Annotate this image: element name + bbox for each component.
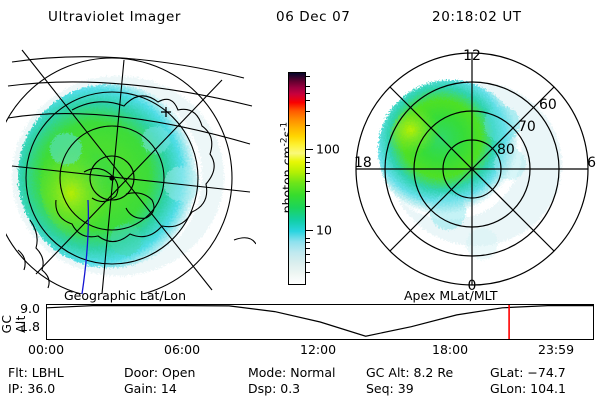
subsatellite-point-icon <box>109 175 114 180</box>
colorbar-minor-tick <box>306 238 310 239</box>
colorbar-minor-tick <box>306 157 310 158</box>
status-ip: IP: 36.0 <box>8 381 55 396</box>
colorbar-minor-tick <box>306 191 310 192</box>
geographic-image-panel[interactable] <box>6 44 256 294</box>
colorbar-minor-tick <box>306 206 310 207</box>
orbit-xtick-4: 23:59 <box>538 342 574 357</box>
colorbar-tick-label-10: 10 <box>316 222 332 237</box>
orbit-plot-svg <box>47 305 593 339</box>
status-footer: Flt: LBHL IP: 36.0 Door: Open Gain: 14 M… <box>0 365 600 399</box>
observation-time: 20:18:02 UT <box>432 9 522 25</box>
header-bar: Ultraviolet Imager 06 Dec 07 20:18:02 UT <box>0 6 600 32</box>
ultraviolet-imager-window: Ultraviolet Imager 06 Dec 07 20:18:02 UT <box>0 0 600 400</box>
orbit-plot-area[interactable] <box>46 304 594 340</box>
colorbar-minor-tick <box>306 242 310 243</box>
status-gain: Gain: 14 <box>124 381 177 396</box>
colorbar-minor-tick <box>306 93 310 94</box>
status-gc-alt: GC Alt: 8.2 Re <box>366 365 453 380</box>
colorbar-minor-tick <box>306 254 310 255</box>
apex-mlat-label-70: 70 <box>518 119 536 135</box>
status-door: Door: Open <box>124 365 195 380</box>
status-mode: Mode: Normal <box>248 365 335 380</box>
orbit-altitude-trace <box>47 306 593 337</box>
apex-mlat-label-60: 60 <box>539 97 557 113</box>
orbit-xtick-3: 18:00 <box>432 342 468 357</box>
colorbar-minor-tick <box>306 100 310 101</box>
status-dsp: Dsp: 0.3 <box>248 381 300 396</box>
colorbar-minor-tick <box>306 162 310 163</box>
apex-mlt-spokes <box>356 53 588 285</box>
instrument-title: Ultraviolet Imager <box>48 9 181 25</box>
apex-mlt-label-12: 12 <box>463 48 481 64</box>
colorbar-minor-tick <box>306 125 310 126</box>
colorbar-minor-tick <box>306 248 310 249</box>
colorbar: photon cm-2s-1 10010 <box>258 60 350 295</box>
colorbar-minor-tick <box>306 86 310 87</box>
colorbar-tick-100 <box>306 149 313 150</box>
status-glon: GLon: 104.1 <box>490 381 566 396</box>
colorbar-minor-tick <box>306 111 310 112</box>
colorbar-minor-tick <box>306 272 310 273</box>
colorbar-tick-10 <box>306 230 313 231</box>
geographic-aurora-emission <box>12 76 224 276</box>
status-seq: Seq: 39 <box>366 381 414 396</box>
orbit-xtick-1: 06:00 <box>164 342 200 357</box>
colorbar-minor-tick <box>306 262 310 263</box>
colorbar-minor-tick <box>306 167 310 168</box>
apex-plot-svg: 12 18 6 0 60 70 80 <box>352 44 598 294</box>
observation-date: 06 Dec 07 <box>276 9 350 25</box>
geographic-plot-svg <box>6 44 256 294</box>
apex-mlt-label-18: 18 <box>354 155 372 171</box>
caption-geographic: Geographic Lat/Lon <box>64 288 186 303</box>
colorbar-gradient <box>289 73 305 284</box>
orbit-altitude-strip: Geographic Lat/Lon Apex MLat/MLT GC Alt … <box>0 288 600 356</box>
colorbar-scale <box>288 72 306 285</box>
orbit-xtick-0: 00:00 <box>28 342 64 357</box>
apex-mlt-label-6: 6 <box>587 155 596 171</box>
status-filter: Flt: LBHL <box>8 365 64 380</box>
apex-mlat-label-80: 80 <box>497 142 515 158</box>
apex-image-panel[interactable]: 12 18 6 0 60 70 80 <box>352 44 598 294</box>
orbit-ytick-high: 9.0 <box>4 301 40 316</box>
colorbar-minor-tick <box>306 173 310 174</box>
colorbar-tick-label-100: 100 <box>316 142 340 157</box>
colorbar-minor-tick <box>306 181 310 182</box>
status-glat: GLat: −74.7 <box>490 365 566 380</box>
orbit-xtick-2: 12:00 <box>300 342 336 357</box>
caption-apex: Apex MLat/MLT <box>404 288 498 303</box>
orbit-ytick-low: 1.8 <box>4 319 40 334</box>
colorbar-minor-tick <box>306 76 310 77</box>
